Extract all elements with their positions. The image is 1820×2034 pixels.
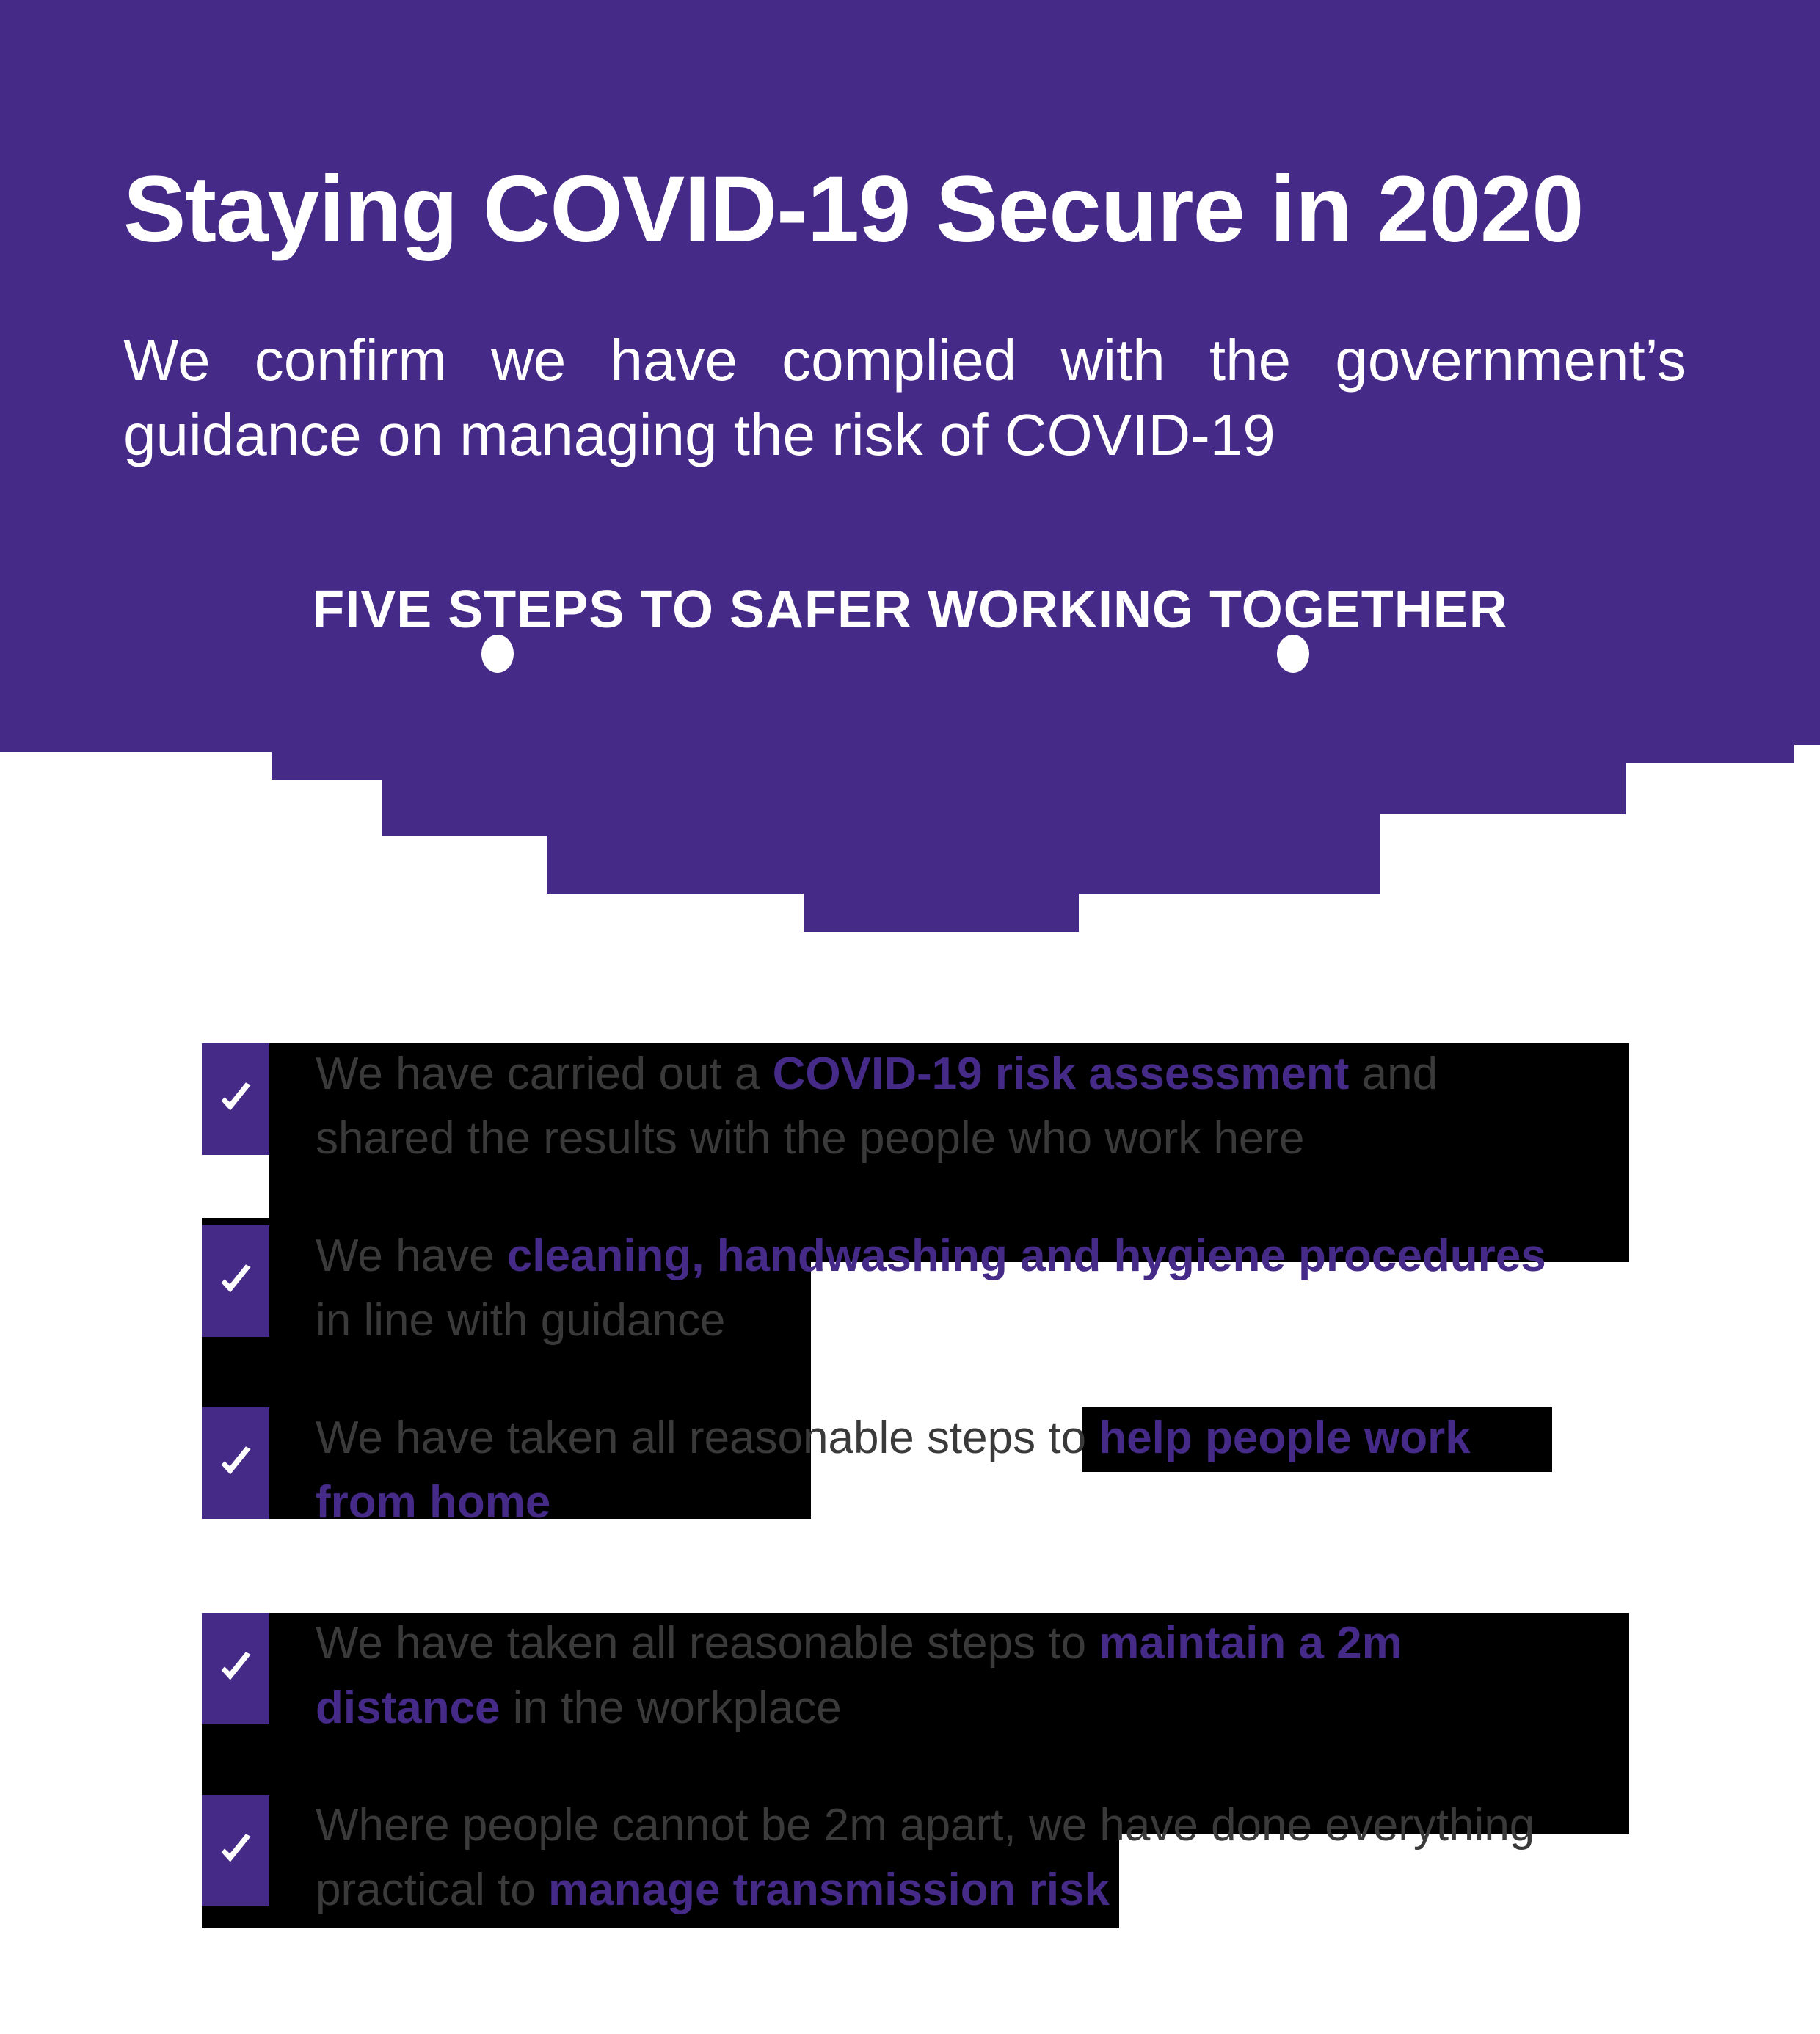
item5-line2: practical to manage transmission risk — [316, 1858, 1535, 1922]
checklist-section: We have carried out a COVID-19 risk asse… — [0, 0, 1820, 2034]
check-icon — [213, 1076, 258, 1122]
item2-line1: We have cleaning, handwashing and hygien… — [316, 1224, 1546, 1288]
item3-line2: from home — [316, 1470, 1471, 1535]
checklist-item-two-metre-distance-text: We have taken all reasonable steps to ma… — [316, 1611, 1402, 1740]
item1-line2: shared the results with the people who w… — [316, 1107, 1438, 1171]
check-icon — [213, 1258, 258, 1304]
checklist-item-cleaning-hygiene-text: We have cleaning, handwashing and hygien… — [316, 1224, 1546, 1353]
item2-line2: in line with guidance — [316, 1288, 1546, 1353]
checkbox-work-from-home[interactable] — [202, 1407, 269, 1519]
item5-line1: Where people cannot be 2m apart, we have… — [316, 1793, 1535, 1858]
checkbox-two-metre-distance[interactable] — [202, 1613, 269, 1724]
item1-line1: We have carried out a COVID-19 risk asse… — [316, 1042, 1438, 1107]
check-icon — [213, 1828, 258, 1873]
item4-line1: We have taken all reasonable steps to ma… — [316, 1611, 1402, 1676]
checkbox-transmission-risk[interactable] — [202, 1795, 269, 1906]
checkbox-risk-assessment[interactable] — [202, 1043, 269, 1155]
checkbox-cleaning-hygiene[interactable] — [202, 1225, 269, 1337]
checklist-item-transmission-risk-text: Where people cannot be 2m apart, we have… — [316, 1793, 1535, 1922]
checklist-item-risk-assessment-text: We have carried out a COVID-19 risk asse… — [316, 1042, 1438, 1171]
checklist-item-work-from-home-text: We have taken all reasonable steps to he… — [316, 1406, 1471, 1535]
check-icon — [213, 1440, 258, 1486]
item4-line2: distance in the workplace — [316, 1676, 1402, 1740]
item3-line1: We have taken all reasonable steps to he… — [316, 1406, 1471, 1470]
check-icon — [213, 1646, 258, 1691]
